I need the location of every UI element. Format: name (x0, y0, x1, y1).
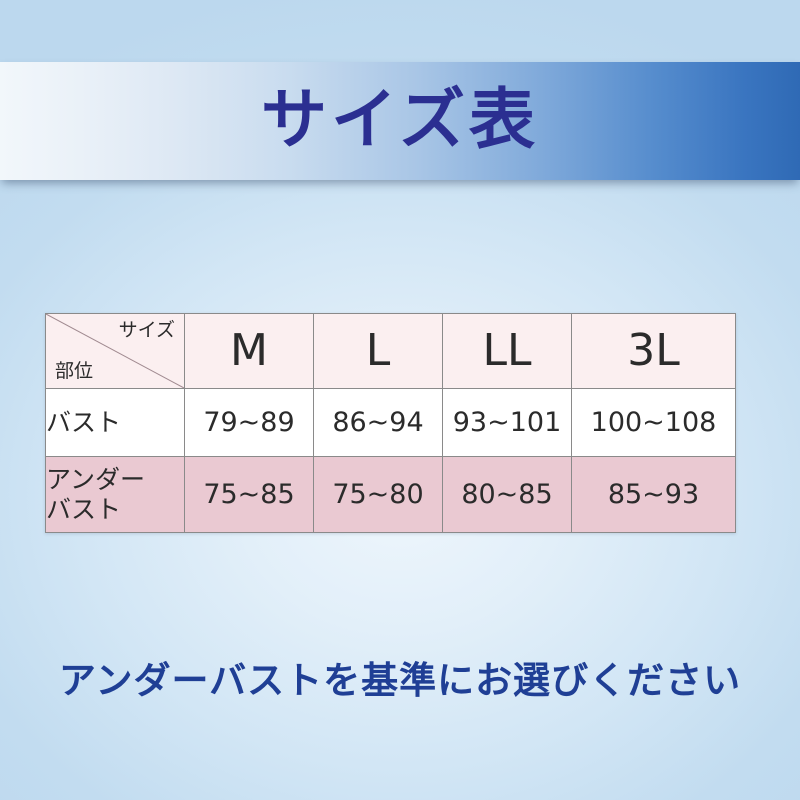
row-label-underbust: アンダー バスト (46, 457, 185, 533)
size-table: サイズ 部位 M L LL 3L バスト 79~89 86~94 93~101 … (45, 313, 736, 533)
bust-value-m: 79~89 (185, 389, 314, 457)
table-row-underbust: アンダー バスト 75~85 75~80 80~85 85~93 (46, 457, 736, 533)
bust-value-3l: 100~108 (572, 389, 736, 457)
underbust-value-ll: 80~85 (443, 457, 572, 533)
row-label-bust: バスト (46, 389, 185, 457)
bust-value-ll: 93~101 (443, 389, 572, 457)
size-header-m: M (185, 314, 314, 389)
underbust-value-3l: 85~93 (572, 457, 736, 533)
bust-value-l: 86~94 (314, 389, 443, 457)
size-header-3l: 3L (572, 314, 736, 389)
table-header-row: サイズ 部位 M L LL 3L (46, 314, 736, 389)
corner-size-label: サイズ (119, 320, 175, 341)
title-banner: サイズ表 (0, 62, 800, 180)
size-chart-page: サイズ表 サイズ 部位 M L LL 3L (0, 0, 800, 800)
size-header-l: L (314, 314, 443, 389)
corner-header-cell: サイズ 部位 (46, 314, 185, 389)
row-label-underbust-line2: バスト (46, 495, 121, 524)
corner-part-label: 部位 (55, 361, 93, 382)
table-row-bust: バスト 79~89 86~94 93~101 100~108 (46, 389, 736, 457)
underbust-value-l: 75~80 (314, 457, 443, 533)
guidance-caption: アンダーバストを基準にお選びください (0, 650, 800, 704)
row-label-underbust-line1: アンダー (46, 465, 145, 494)
underbust-value-m: 75~85 (185, 457, 314, 533)
page-title: サイズ表 (0, 62, 800, 180)
size-header-ll: LL (443, 314, 572, 389)
